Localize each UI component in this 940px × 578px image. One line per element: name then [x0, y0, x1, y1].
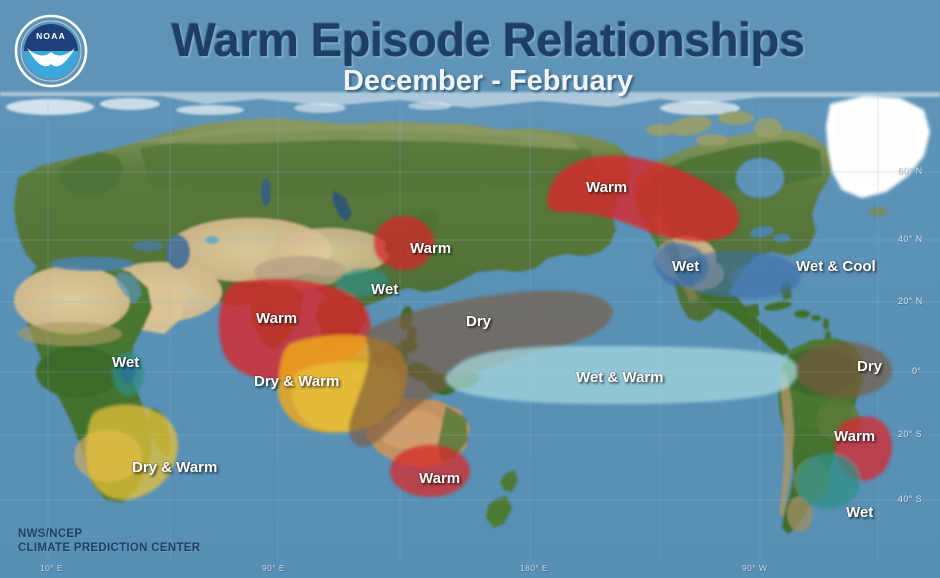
lon-label-10e: 10° E	[40, 563, 63, 573]
region-japan-warm	[374, 216, 434, 270]
noaa-logo-icon: NOAA	[14, 14, 88, 88]
warm-episode-relationships-map: Warm Episode Relationships December - Fe…	[0, 0, 940, 578]
lat-label-0: 0°	[912, 366, 921, 376]
lat-label-60n: 60° N	[898, 166, 923, 176]
world-map	[0, 0, 940, 578]
lon-label-90e: 90° E	[262, 563, 285, 573]
lat-label-40n: 40° N	[898, 234, 923, 244]
region-australia-warm	[390, 445, 470, 497]
lat-label-20s: 20° S	[898, 429, 922, 439]
lat-label-20n: 20° N	[898, 296, 923, 306]
region-equatorial-wet-warm	[446, 346, 799, 404]
credits-line-1: NWS/NCEP	[18, 527, 200, 541]
lon-label-180e: 180° E	[520, 563, 548, 573]
credits-block: NWS/NCEP CLIMATE PREDICTION CENTER	[18, 527, 200, 555]
noaa-logo-text: NOAA	[36, 31, 66, 41]
lat-label-40s: 40° S	[898, 494, 922, 504]
lon-label-90w: 90° W	[742, 563, 767, 573]
credits-line-2: CLIMATE PREDICTION CENTER	[18, 541, 200, 555]
region-amazon-dry	[796, 342, 892, 398]
region-argentina-wet	[796, 453, 860, 509]
